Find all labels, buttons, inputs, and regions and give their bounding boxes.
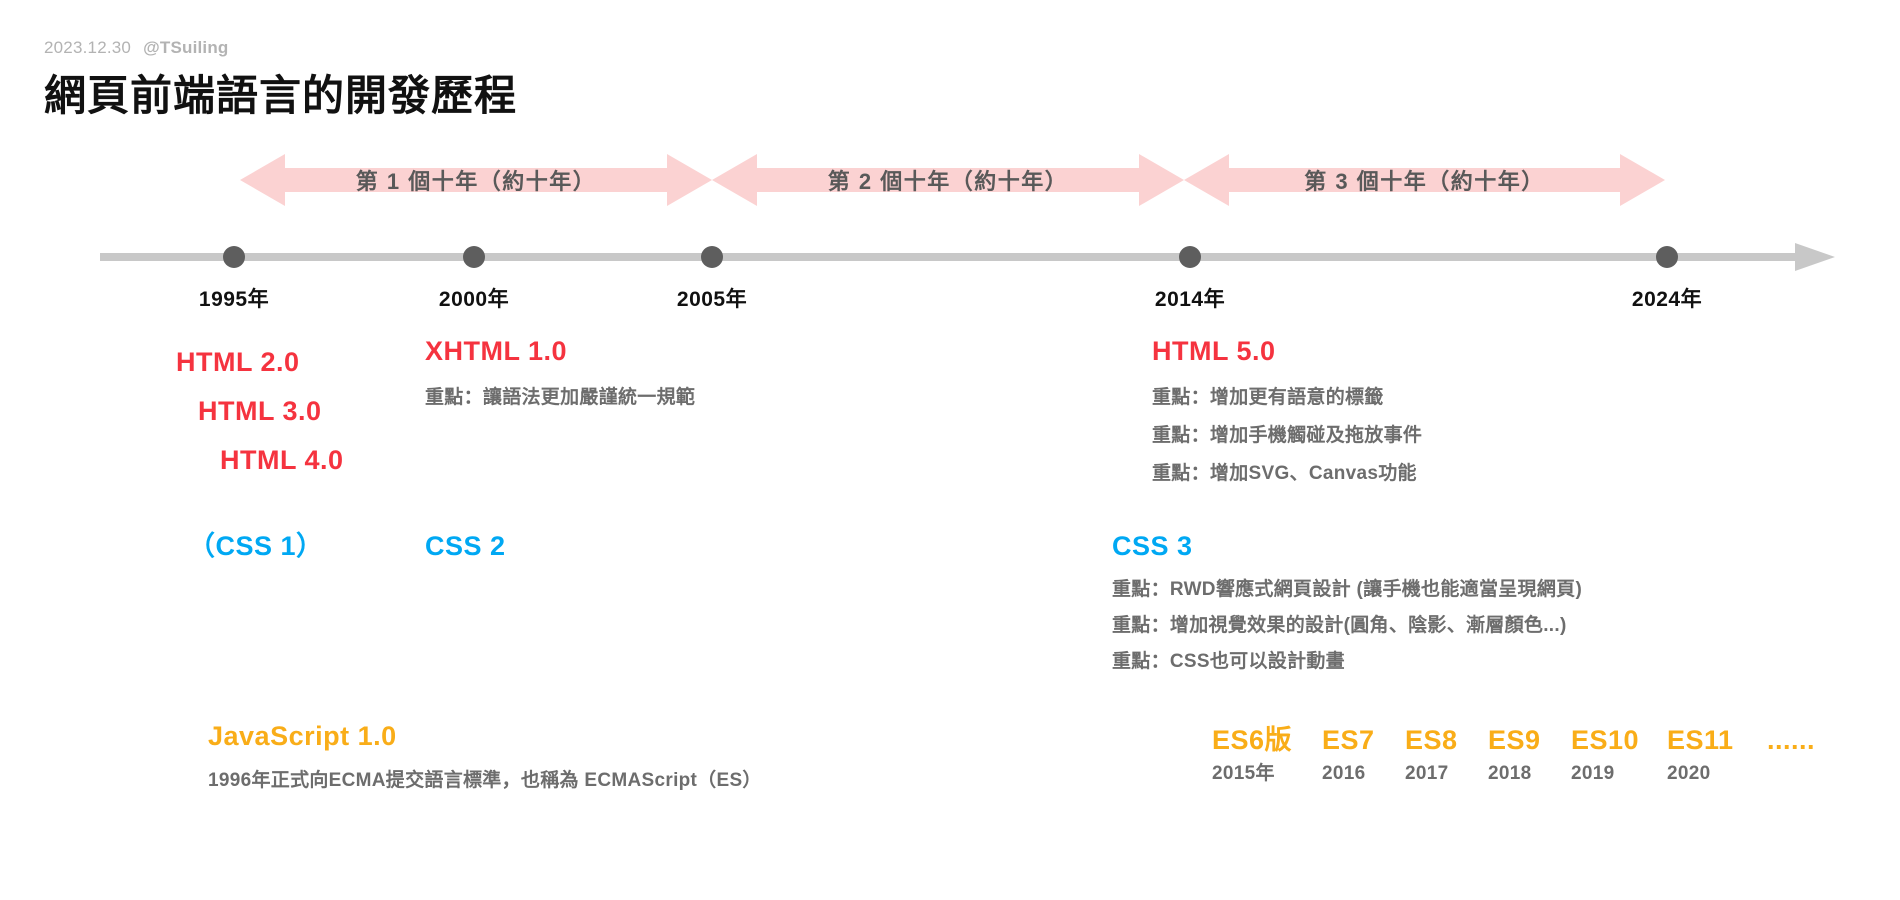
year-label-1995: 1995年 bbox=[199, 283, 269, 313]
html5-detail-1: 重點：增加更有語意的標籤 bbox=[1152, 379, 1422, 417]
infographic-canvas: 2023.12.30 @TSuiling 網頁前端語言的開發歷程 第 1 個十年… bbox=[0, 0, 1900, 900]
css3-block: CSS 3 重點：RWD響應式網頁設計 (讓手機也能適當呈現網頁) 重點：增加視… bbox=[1112, 533, 1582, 680]
css1-block: （CSS 1） bbox=[188, 533, 324, 560]
xhtml-2000-block: XHTML 1.0 重點：讓語法更加嚴謹統一規範 bbox=[425, 338, 695, 417]
css3-title: CSS 3 bbox=[1112, 533, 1582, 560]
javascript-title: JavaScript 1.0 bbox=[208, 723, 762, 750]
ecmascript-item-es9: ES9 2018 bbox=[1488, 723, 1571, 791]
ecmascript-item-es11: ES11 2020 bbox=[1667, 723, 1767, 791]
html5-detail-2: 重點：增加手機觸碰及拖放事件 bbox=[1152, 417, 1422, 455]
xhtml-detail-1: 重點：讓語法更加嚴謹統一規範 bbox=[425, 379, 695, 417]
year-label-2005: 2005年 bbox=[677, 283, 747, 313]
css3-detail-1: 重點：RWD響應式網頁設計 (讓手機也能適當呈現網頁) bbox=[1112, 572, 1582, 608]
javascript-note: 1996年正式向ECMA提交語言標準，也稱為 ECMAScript（ES） bbox=[208, 762, 762, 800]
year-label-2014: 2014年 bbox=[1155, 283, 1225, 313]
ecmascript-name-es10: ES10 bbox=[1571, 723, 1667, 757]
html5-title: HTML 5.0 bbox=[1152, 338, 1422, 365]
javascript-block: JavaScript 1.0 1996年正式向ECMA提交語言標準，也稱為 EC… bbox=[208, 723, 762, 800]
html5-2014-block: HTML 5.0 重點：增加更有語意的標籤 重點：增加手機觸碰及拖放事件 重點：… bbox=[1152, 338, 1422, 493]
html-version-2: HTML 2.0 bbox=[176, 338, 344, 387]
ecmascript-year-es9: 2018 bbox=[1488, 757, 1571, 791]
css3-detail-2: 重點：增加視覺效果的設計(圓角、陰影、漸層顏色...) bbox=[1112, 608, 1582, 644]
timeline-node-1995[interactable] bbox=[223, 246, 245, 268]
css1-title: （CSS 1） bbox=[188, 533, 324, 560]
ecmascript-name-more: ...... bbox=[1767, 723, 1857, 757]
ecmascript-item-es6: ES6版 2015年 bbox=[1212, 723, 1322, 791]
timeline-node-2000[interactable] bbox=[463, 246, 485, 268]
css2-title: CSS 2 bbox=[425, 533, 506, 560]
ecmascript-item-es7: ES7 2016 bbox=[1322, 723, 1405, 791]
ecmascript-row: ES6版 2015年 ES7 2016 ES8 2017 ES9 2018 ES… bbox=[1212, 723, 1857, 791]
timeline-node-2005[interactable] bbox=[701, 246, 723, 268]
xhtml-title: XHTML 1.0 bbox=[425, 338, 695, 365]
ecmascript-year-es11: 2020 bbox=[1667, 757, 1767, 791]
css2-block: CSS 2 bbox=[425, 533, 506, 560]
html-versions-1995-block: HTML 2.0 HTML 3.0 HTML 4.0 bbox=[176, 338, 344, 485]
ecmascript-year-es8: 2017 bbox=[1405, 757, 1488, 791]
year-label-2024: 2024年 bbox=[1632, 283, 1702, 313]
ecmascript-year-es6: 2015年 bbox=[1212, 757, 1322, 791]
ecmascript-item-es10: ES10 2019 bbox=[1571, 723, 1667, 791]
html-version-3: HTML 3.0 bbox=[176, 387, 344, 436]
timeline-node-2024[interactable] bbox=[1656, 246, 1678, 268]
html-version-4: HTML 4.0 bbox=[176, 436, 344, 485]
ecmascript-versions-block: ES6版 2015年 ES7 2016 ES8 2017 ES9 2018 ES… bbox=[1212, 723, 1857, 791]
ecmascript-item-es8: ES8 2017 bbox=[1405, 723, 1488, 791]
ecmascript-name-es11: ES11 bbox=[1667, 723, 1767, 757]
ecmascript-year-es7: 2016 bbox=[1322, 757, 1405, 791]
year-label-2000: 2000年 bbox=[439, 283, 509, 313]
ecmascript-name-es9: ES9 bbox=[1488, 723, 1571, 757]
ecmascript-name-es8: ES8 bbox=[1405, 723, 1488, 757]
ecmascript-item-more: ...... bbox=[1767, 723, 1857, 757]
html5-detail-3: 重點：增加SVG、Canvas功能 bbox=[1152, 455, 1422, 493]
css3-detail-3: 重點：CSS也可以設計動畫 bbox=[1112, 644, 1582, 680]
ecmascript-year-es10: 2019 bbox=[1571, 757, 1667, 791]
ecmascript-name-es7: ES7 bbox=[1322, 723, 1405, 757]
timeline-axis-arrowhead bbox=[1795, 243, 1835, 271]
ecmascript-name-es6: ES6版 bbox=[1212, 723, 1322, 757]
timeline-node-2014[interactable] bbox=[1179, 246, 1201, 268]
